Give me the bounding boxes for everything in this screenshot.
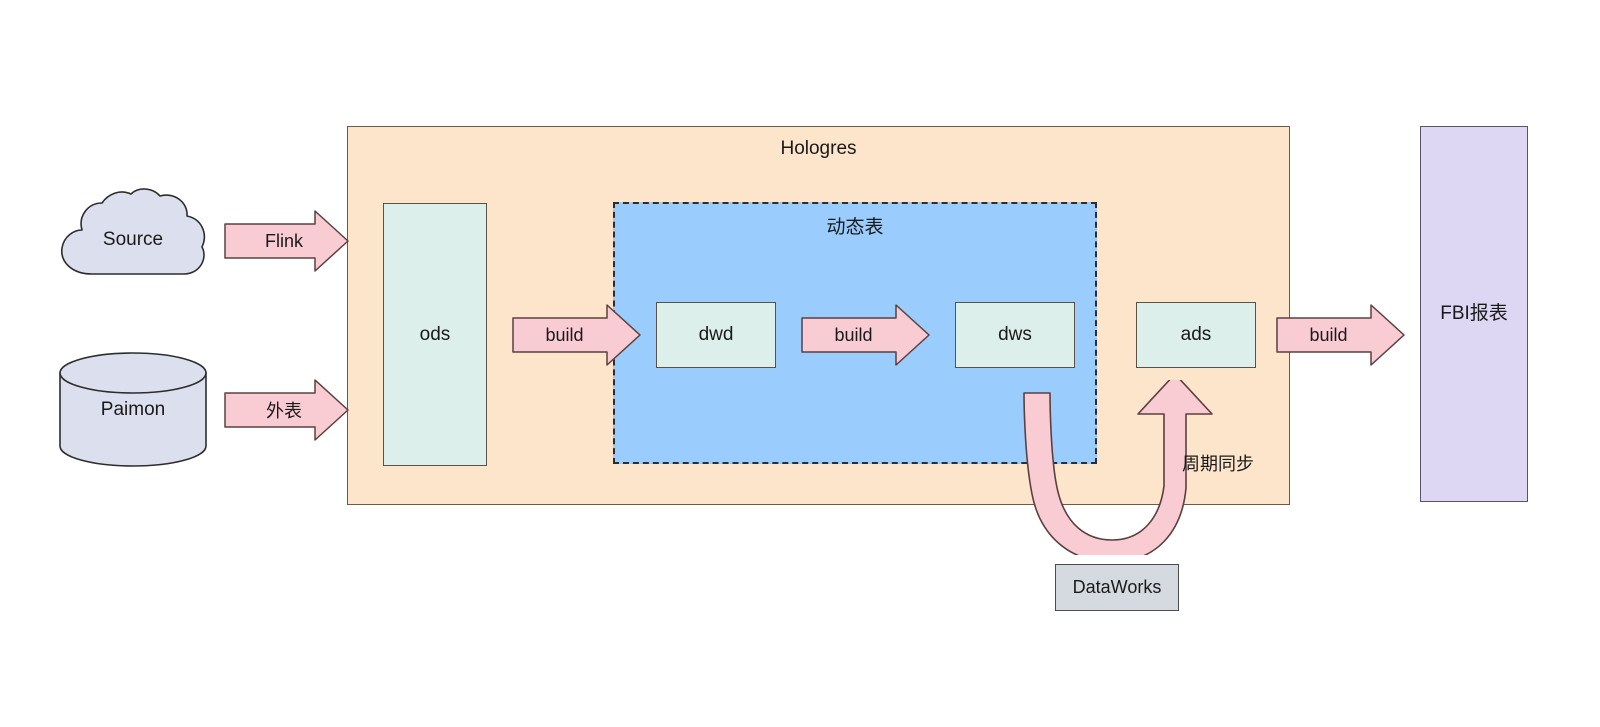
node-ads[interactable]: ads	[1136, 302, 1256, 368]
node-dwd-label: dwd	[699, 323, 734, 347]
node-dws[interactable]: dws	[955, 302, 1075, 368]
arrow-external-table[interactable]	[224, 379, 350, 441]
node-dwd[interactable]: dwd	[656, 302, 776, 368]
arrow-build-dwd-dws[interactable]	[801, 304, 931, 366]
arrow-build-ads-fbi[interactable]	[1276, 304, 1406, 366]
right-arrow-icon	[1276, 304, 1406, 366]
right-arrow-icon	[224, 379, 350, 441]
right-arrow-icon	[512, 304, 642, 366]
node-fbi-report[interactable]: FBI报表	[1420, 126, 1528, 502]
node-ods-label: ods	[420, 323, 451, 347]
dynamic-table-label: 动态表	[826, 216, 883, 240]
node-dataworks-label: DataWorks	[1073, 576, 1162, 599]
node-ads-label: ads	[1181, 323, 1212, 347]
node-paimon[interactable]: Paimon	[58, 351, 208, 468]
diagram-canvas: Hologres 动态表 Source Paimon ods dwd dws a…	[0, 0, 1600, 727]
arrow-build-ods-dwd[interactable]	[512, 304, 642, 366]
node-dws-label: dws	[998, 323, 1032, 347]
arrow-periodic-sync-label: 周期同步	[1182, 450, 1254, 476]
right-arrow-icon	[801, 304, 931, 366]
arrow-flink[interactable]	[224, 210, 350, 272]
node-dataworks[interactable]: DataWorks	[1055, 564, 1179, 611]
right-arrow-icon	[224, 210, 350, 272]
node-source[interactable]: Source	[56, 186, 210, 294]
node-source-label: Source	[103, 228, 163, 252]
node-fbi-report-label: FBI报表	[1440, 302, 1508, 326]
hologres-container-label: Hologres	[780, 137, 856, 161]
node-ods[interactable]: ods	[383, 203, 487, 466]
node-paimon-label: Paimon	[101, 398, 165, 422]
